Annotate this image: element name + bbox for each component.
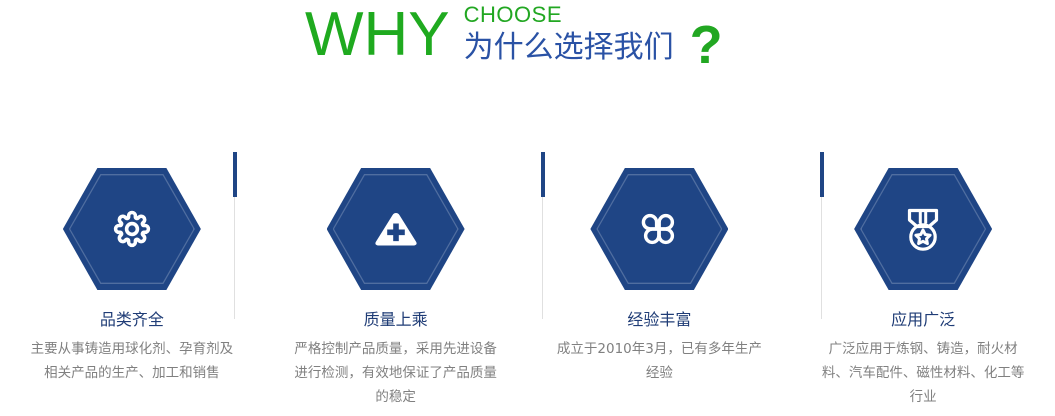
heading-chinese-subtitle: 为什么选择我们	[464, 30, 674, 66]
gear-icon	[63, 168, 201, 290]
medal-icon	[854, 168, 992, 290]
clover-icon	[590, 168, 728, 290]
heading-why: WHY	[305, 0, 450, 70]
feature-card-2[interactable]: 质量上乘 严格控制产品质量，采用先进设备进行检测，有效地保证了产品质量的稳定	[264, 150, 528, 416]
feature-card-3[interactable]: 经验丰富 成立于2010年3月，已有多年生产经验	[528, 150, 792, 416]
separator-grey-segment	[821, 197, 822, 319]
heading-choose: CHOOSE	[464, 2, 674, 28]
feature-card-4[interactable]: 应用广泛 广泛应用于炼钢、铸造，耐火材料、汽车配件、磁性材料、化工等行业	[791, 150, 1055, 416]
feature-cards-row: 品类齐全 主要从事铸造用球化剂、孕育剂及相关产品的生产、加工和销售 质量上乘 严…	[0, 150, 1055, 416]
card-title: 质量上乘	[364, 310, 428, 330]
hexagon-badge-2	[327, 168, 465, 290]
triangle-plus-icon	[327, 168, 465, 290]
separator-blue-segment	[541, 152, 545, 197]
card-description: 严格控制产品质量，采用先进设备进行检测，有效地保证了产品质量的稳定	[288, 337, 503, 409]
separator-blue-segment	[820, 152, 824, 197]
hexagon-badge-1	[63, 168, 201, 290]
card-title: 经验丰富	[627, 310, 691, 330]
feature-card-1[interactable]: 品类齐全 主要从事铸造用球化剂、孕育剂及相关产品的生产、加工和销售	[0, 150, 264, 416]
separator-blue-segment	[233, 152, 237, 197]
separator-grey-segment	[542, 197, 543, 319]
card-title: 应用广泛	[891, 310, 955, 330]
card-description: 广泛应用于炼钢、铸造，耐火材料、汽车配件、磁性材料、化工等行业	[816, 337, 1031, 409]
card-description: 成立于2010年3月，已有多年生产经验	[552, 337, 767, 385]
heading-middle-block: CHOOSE 为什么选择我们	[464, 2, 674, 66]
card-title: 品类齐全	[100, 310, 164, 330]
question-mark-icon: ?	[690, 16, 723, 74]
hexagon-badge-4	[854, 168, 992, 290]
separator-grey-segment	[234, 197, 235, 319]
section-header: WHY CHOOSE 为什么选择我们 ?	[0, 0, 1055, 100]
header-title-group: WHY CHOOSE 为什么选择我们 ?	[305, 0, 723, 74]
hexagon-badge-3	[590, 168, 728, 290]
card-description: 主要从事铸造用球化剂、孕育剂及相关产品的生产、加工和销售	[24, 337, 239, 385]
